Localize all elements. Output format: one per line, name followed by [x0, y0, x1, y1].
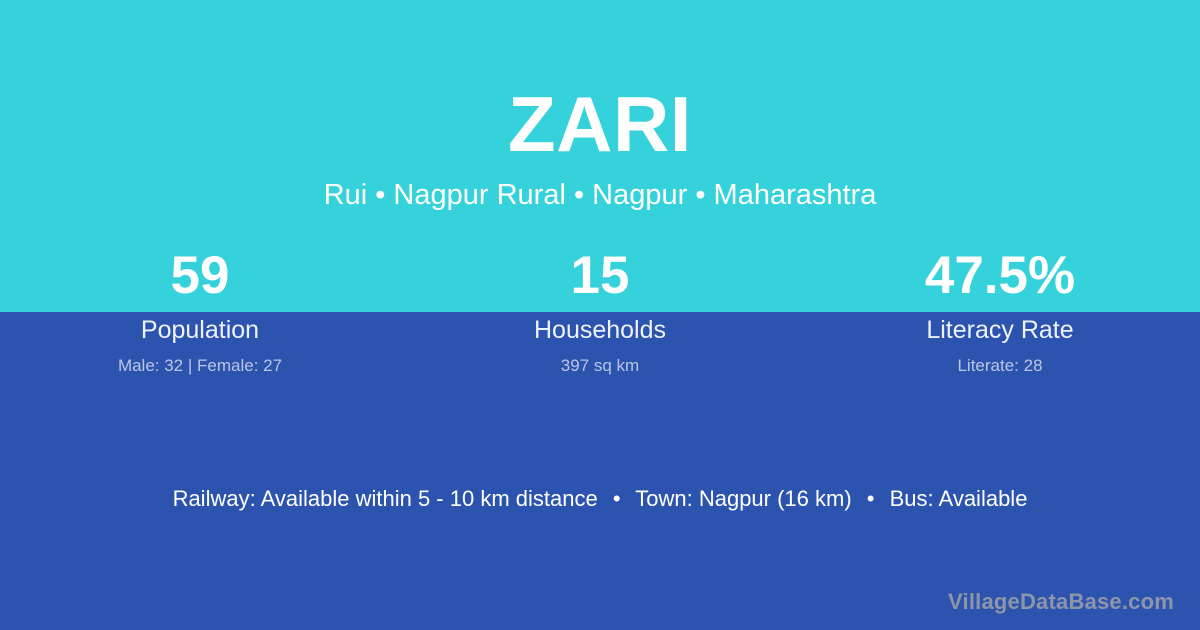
stat-sublabel: Male: 32 | Female: 27: [0, 345, 400, 377]
stat-population: 59 Population Male: 32 | Female: 27: [0, 244, 400, 377]
stat-sublabel: 397 sq km: [400, 345, 800, 377]
stat-label: Population: [0, 312, 400, 345]
amenities-line: Railway: Available within 5 - 10 km dist…: [0, 484, 1200, 514]
amenity-separator-icon: •: [604, 486, 630, 511]
stats-row: 59 Population Male: 32 | Female: 27 15 H…: [0, 244, 1200, 377]
amenity-railway: Railway: Available within 5 - 10 km dist…: [173, 486, 598, 511]
page-title: ZARI: [0, 0, 1200, 166]
stat-value: 47.5%: [800, 244, 1200, 312]
stat-label: Households: [400, 312, 800, 345]
stat-households: 15 Households 397 sq km: [400, 244, 800, 377]
stat-value: 59: [0, 244, 400, 312]
breadcrumb: Rui • Nagpur Rural • Nagpur • Maharashtr…: [0, 166, 1200, 212]
site-branding: VillageDataBase.com: [948, 588, 1174, 616]
amenity-town: Town: Nagpur (16 km): [635, 486, 851, 511]
card-header: ZARI Rui • Nagpur Rural • Nagpur • Mahar…: [0, 0, 1200, 212]
stat-label: Literacy Rate: [800, 312, 1200, 345]
amenity-bus: Bus: Available: [890, 486, 1028, 511]
stat-value: 15: [400, 244, 800, 312]
village-info-card: ZARI Rui • Nagpur Rural • Nagpur • Mahar…: [0, 0, 1200, 630]
amenity-separator-icon: •: [858, 486, 884, 511]
stat-literacy-rate: 47.5% Literacy Rate Literate: 28: [800, 244, 1200, 377]
stat-sublabel: Literate: 28: [800, 345, 1200, 377]
